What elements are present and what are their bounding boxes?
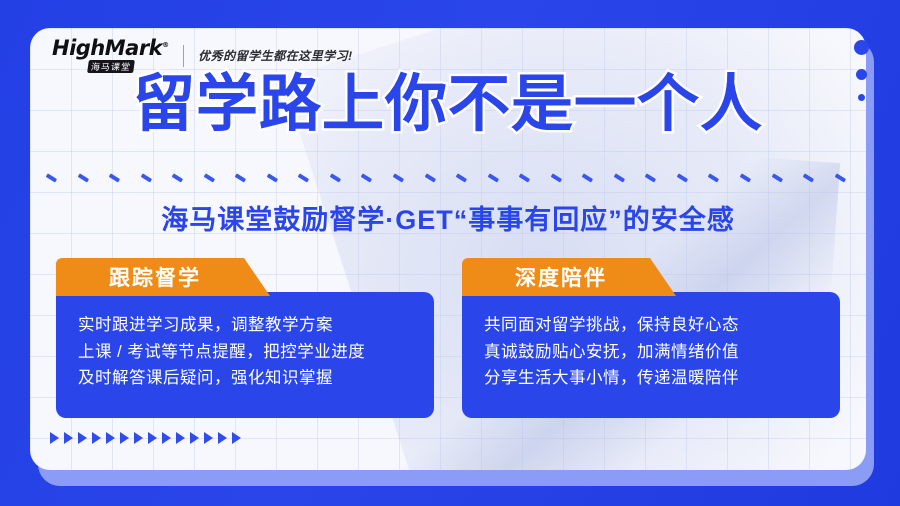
- arrow-right-icon: [162, 432, 171, 444]
- card-body: 共同面对留学挑战，保持良好心态 真诚鼓励贴心安抚，加满情绪价值 分享生活大事小情…: [462, 292, 840, 418]
- dash-mark: [551, 174, 562, 183]
- card-tracking: 跟踪督学 实时跟进学习成果，调整教学方案 上课 / 考试等节点提醒，把控学业进度…: [56, 258, 434, 418]
- arrow-right-icon: [64, 432, 73, 444]
- card-line: 上课 / 考试等节点提醒，把控学业进度: [78, 339, 412, 366]
- card-line: 分享生活大事小情，传递温暖陪伴: [484, 365, 818, 392]
- arrow-right-icon: [106, 432, 115, 444]
- dash-mark: [519, 174, 530, 183]
- dash-mark: [677, 174, 688, 183]
- brand-header: HighMark® 海马课堂 优秀的留学生都在这里学习!: [52, 38, 353, 73]
- decor-dot-medium: [856, 69, 867, 80]
- dot-decor-column: [854, 40, 869, 101]
- dash-mark: [614, 174, 625, 183]
- header-divider: [183, 45, 184, 67]
- dash-mark: [204, 174, 215, 183]
- card-line: 共同面对留学挑战，保持良好心态: [484, 312, 818, 339]
- page-title: 留学路上你不是一个人: [30, 74, 866, 136]
- dash-mark: [740, 174, 751, 183]
- dash-mark: [172, 174, 183, 183]
- feature-cards: 跟踪督学 实时跟进学习成果，调整教学方案 上课 / 考试等节点提醒，把控学业进度…: [56, 258, 840, 418]
- card-title: 跟踪督学: [109, 262, 201, 292]
- logo-wordmark-text: HighMark: [52, 36, 162, 60]
- arrow-right-icon: [190, 432, 199, 444]
- dash-mark: [46, 174, 57, 183]
- dash-mark: [298, 174, 309, 183]
- card-companionship: 深度陪伴 共同面对留学挑战，保持良好心态 真诚鼓励贴心安抚，加满情绪价值 分享生…: [462, 258, 840, 418]
- arrow-right-icon: [232, 432, 241, 444]
- dash-mark: [393, 174, 404, 183]
- dash-mark: [141, 174, 152, 183]
- card-header-ribbon: 深度陪伴: [462, 258, 676, 296]
- dash-mark: [109, 174, 120, 183]
- page-subtitle: 海马课堂鼓励督学·GET“事事有回应”的安全感: [30, 198, 866, 237]
- brand-logo: HighMark® 海马课堂: [52, 38, 169, 73]
- decor-dot-large: [854, 40, 869, 55]
- logo-wordmark: HighMark®: [52, 38, 169, 59]
- dash-mark: [424, 174, 435, 183]
- arrow-right-icon: [50, 432, 59, 444]
- dash-mark: [456, 174, 467, 183]
- arrow-right-icon: [92, 432, 101, 444]
- arrow-right-icon: [204, 432, 213, 444]
- dash-mark: [330, 174, 341, 183]
- dash-mark: [77, 174, 88, 183]
- logo-chinese-name: 海马课堂: [87, 60, 135, 73]
- arrow-right-icon: [134, 432, 143, 444]
- arrow-right-icon: [148, 432, 157, 444]
- dash-mark: [235, 174, 246, 183]
- dash-mark: [708, 174, 719, 183]
- dash-mark: [771, 174, 782, 183]
- dash-mark: [488, 174, 499, 183]
- card-line: 真诚鼓励贴心安抚，加满情绪价值: [484, 339, 818, 366]
- arrow-right-icon: [218, 432, 227, 444]
- card-line: 实时跟进学习成果，调整教学方案: [78, 312, 412, 339]
- arrow-decor-row: [50, 432, 241, 444]
- dash-mark: [361, 174, 372, 183]
- decor-dot-small: [858, 94, 865, 101]
- dash-mark: [803, 174, 814, 183]
- card-header-ribbon: 跟踪督学: [56, 258, 270, 296]
- card-line: 及时解答课后疑问，强化知识掌握: [78, 365, 412, 392]
- arrow-right-icon: [120, 432, 129, 444]
- logo-trademark: ®: [162, 41, 169, 49]
- dash-mark: [267, 174, 278, 183]
- brand-tagline: 优秀的留学生都在这里学习!: [198, 47, 353, 64]
- arrow-right-icon: [176, 432, 185, 444]
- poster-root: HighMark® 海马课堂 优秀的留学生都在这里学习! 留学路上你不是一个人 …: [0, 0, 900, 506]
- card-body: 实时跟进学习成果，调整教学方案 上课 / 考试等节点提醒，把控学业进度 及时解答…: [56, 292, 434, 418]
- dash-mark: [835, 174, 846, 183]
- dash-mark: [645, 174, 656, 183]
- dashed-divider: [46, 172, 846, 184]
- arrow-right-icon: [78, 432, 87, 444]
- card-title: 深度陪伴: [515, 262, 607, 292]
- dash-mark: [582, 174, 593, 183]
